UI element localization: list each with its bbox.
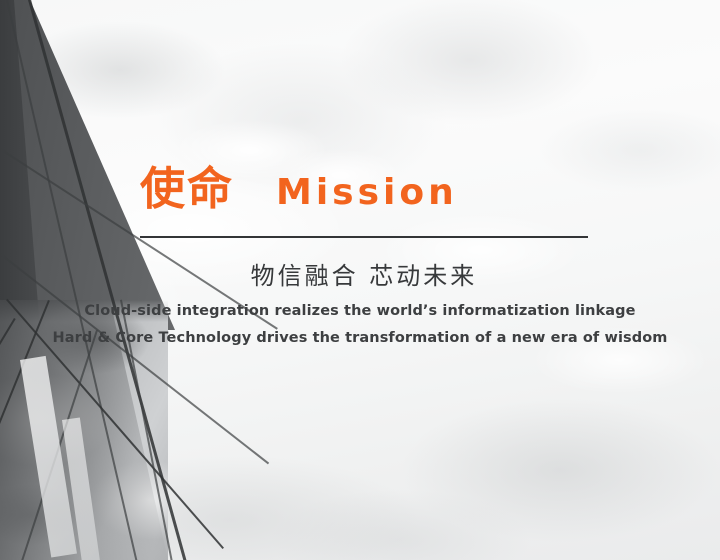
tagline-line-2: Hard & Core Technology drives the transf… [40, 330, 680, 346]
subtitle-chinese: 物信融合 芯动未来 [140, 256, 588, 291]
horizontal-rule [140, 236, 588, 238]
heading-row: 使命 Mission [140, 166, 590, 211]
page-title-english: Mission [276, 175, 458, 211]
banner-content: 使命 Mission 物信融合 芯动未来 Cloud-side integrat… [0, 0, 720, 560]
mission-banner: 使命 Mission 物信融合 芯动未来 Cloud-side integrat… [0, 0, 720, 560]
tagline-line-1: Cloud-side integration realizes the worl… [40, 303, 680, 319]
page-title-chinese: 使命 [140, 166, 234, 211]
